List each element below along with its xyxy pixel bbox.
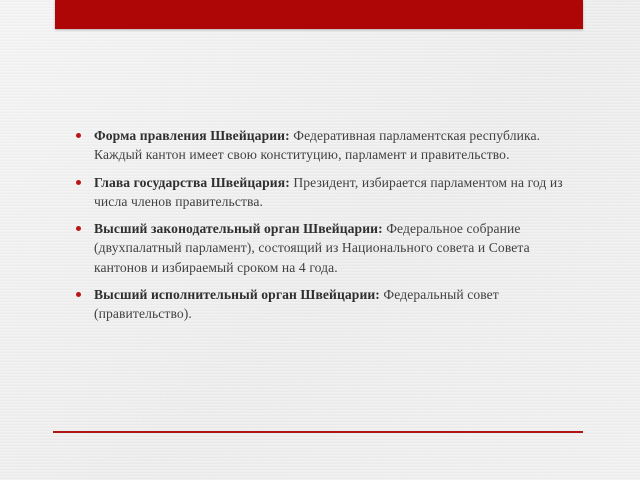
bullet-label: Высший законодательный орган Швейцарии: xyxy=(94,221,383,236)
header-accent-bar xyxy=(55,0,583,29)
list-item: Высший законодательный орган Швейцарии: … xyxy=(60,219,585,277)
bullet-list: Форма правления Швейцарии: Федеративная … xyxy=(60,126,585,324)
bullet-label: Форма правления Швейцарии: xyxy=(94,128,290,143)
bullet-dot-icon xyxy=(76,133,81,138)
bullet-label: Глава государства Швейцария: xyxy=(94,175,290,190)
list-item: Глава государства Швейцария: Президент, … xyxy=(60,173,585,212)
bullet-dot-icon xyxy=(76,226,81,231)
footer-divider xyxy=(53,431,583,433)
slide: Форма правления Швейцарии: Федеративная … xyxy=(0,0,640,480)
list-item: Высший исполнительный орган Швейцарии: Ф… xyxy=(60,285,585,324)
list-item: Форма правления Швейцарии: Федеративная … xyxy=(60,126,585,165)
bullet-dot-icon xyxy=(76,292,81,297)
bullet-label: Высший исполнительный орган Швейцарии: xyxy=(94,287,380,302)
slide-content: Форма правления Швейцарии: Федеративная … xyxy=(60,126,585,324)
bullet-dot-icon xyxy=(76,180,81,185)
